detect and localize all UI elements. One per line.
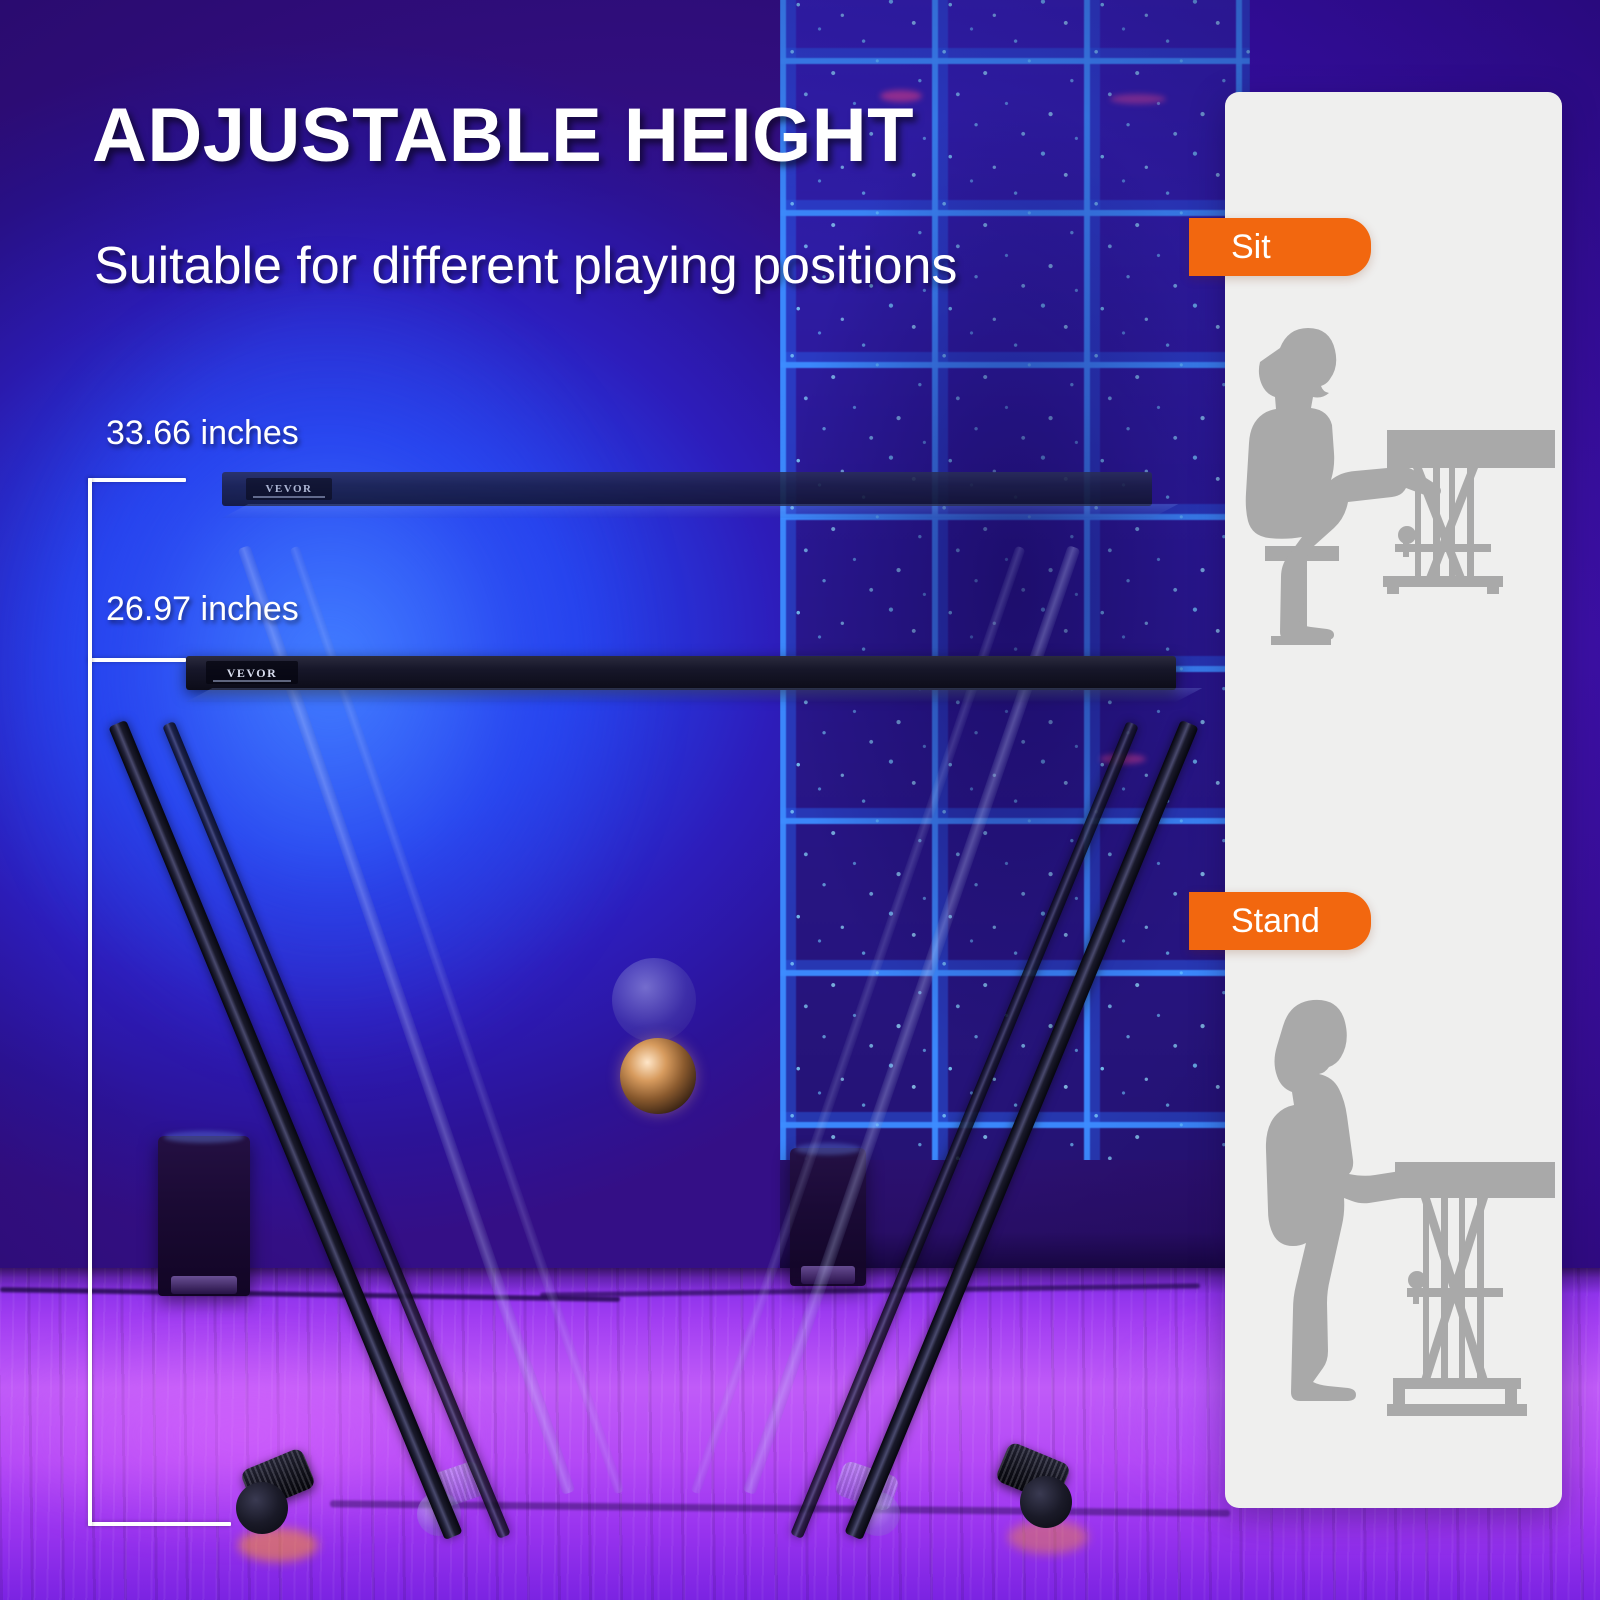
subheadline: Suitable for different playing positions <box>94 236 957 296</box>
badge-sit-label: Sit <box>1189 228 1271 267</box>
person-standing-at-keyboard-silhouette <box>1237 992 1555 1432</box>
badge-stand-label: Stand <box>1189 902 1320 941</box>
badge-stand[interactable]: Stand <box>1189 892 1371 950</box>
vevor-logo-plate-lower: VEVOR <box>206 661 298 684</box>
speaker-base <box>171 1276 237 1294</box>
dimension-tick-top <box>88 478 186 482</box>
speaker-top-glow <box>795 1143 862 1155</box>
stand-pivot-hub-ghost <box>612 958 696 1042</box>
stand-foot-cap <box>1020 1476 1072 1528</box>
vevor-underline <box>213 680 290 682</box>
stage-monitor-speaker-left <box>158 1136 250 1296</box>
stand-foot-cap <box>236 1482 288 1534</box>
floor-light-pool-left <box>0 1300 700 1600</box>
stand-pivot-hub <box>620 1038 696 1114</box>
dimension-label-lower: 26.97 inches <box>106 590 299 629</box>
speaker-top-glow <box>164 1131 245 1143</box>
arm-underside <box>222 504 1178 518</box>
vevor-wordmark: VEVOR <box>227 667 278 679</box>
keyboard-arm-lower <box>186 656 1176 690</box>
vevor-underline <box>253 496 325 498</box>
dimension-label-upper: 33.66 inches <box>106 414 299 453</box>
dimension-tick-middle <box>88 658 186 662</box>
foot-warm-light <box>238 1528 318 1562</box>
arm-underside <box>186 688 1202 702</box>
person-sitting-at-keyboard-silhouette <box>1237 322 1555 672</box>
vevor-logo-plate-upper: VEVOR <box>246 478 332 500</box>
headline: ADJUSTABLE HEIGHT <box>92 92 914 179</box>
keyboard-arm-upper-ghost <box>222 472 1152 506</box>
dimension-vertical-line <box>88 478 92 1526</box>
vevor-wordmark: VEVOR <box>265 484 312 495</box>
usage-panel: Sit <box>1225 92 1562 1508</box>
dimension-tick-bottom <box>88 1522 231 1526</box>
badge-sit[interactable]: Sit <box>1189 218 1371 276</box>
product-marketing-image: VEVOR VEVOR ADJUSTABLE HEIGHT Suitable f… <box>0 0 1600 1600</box>
